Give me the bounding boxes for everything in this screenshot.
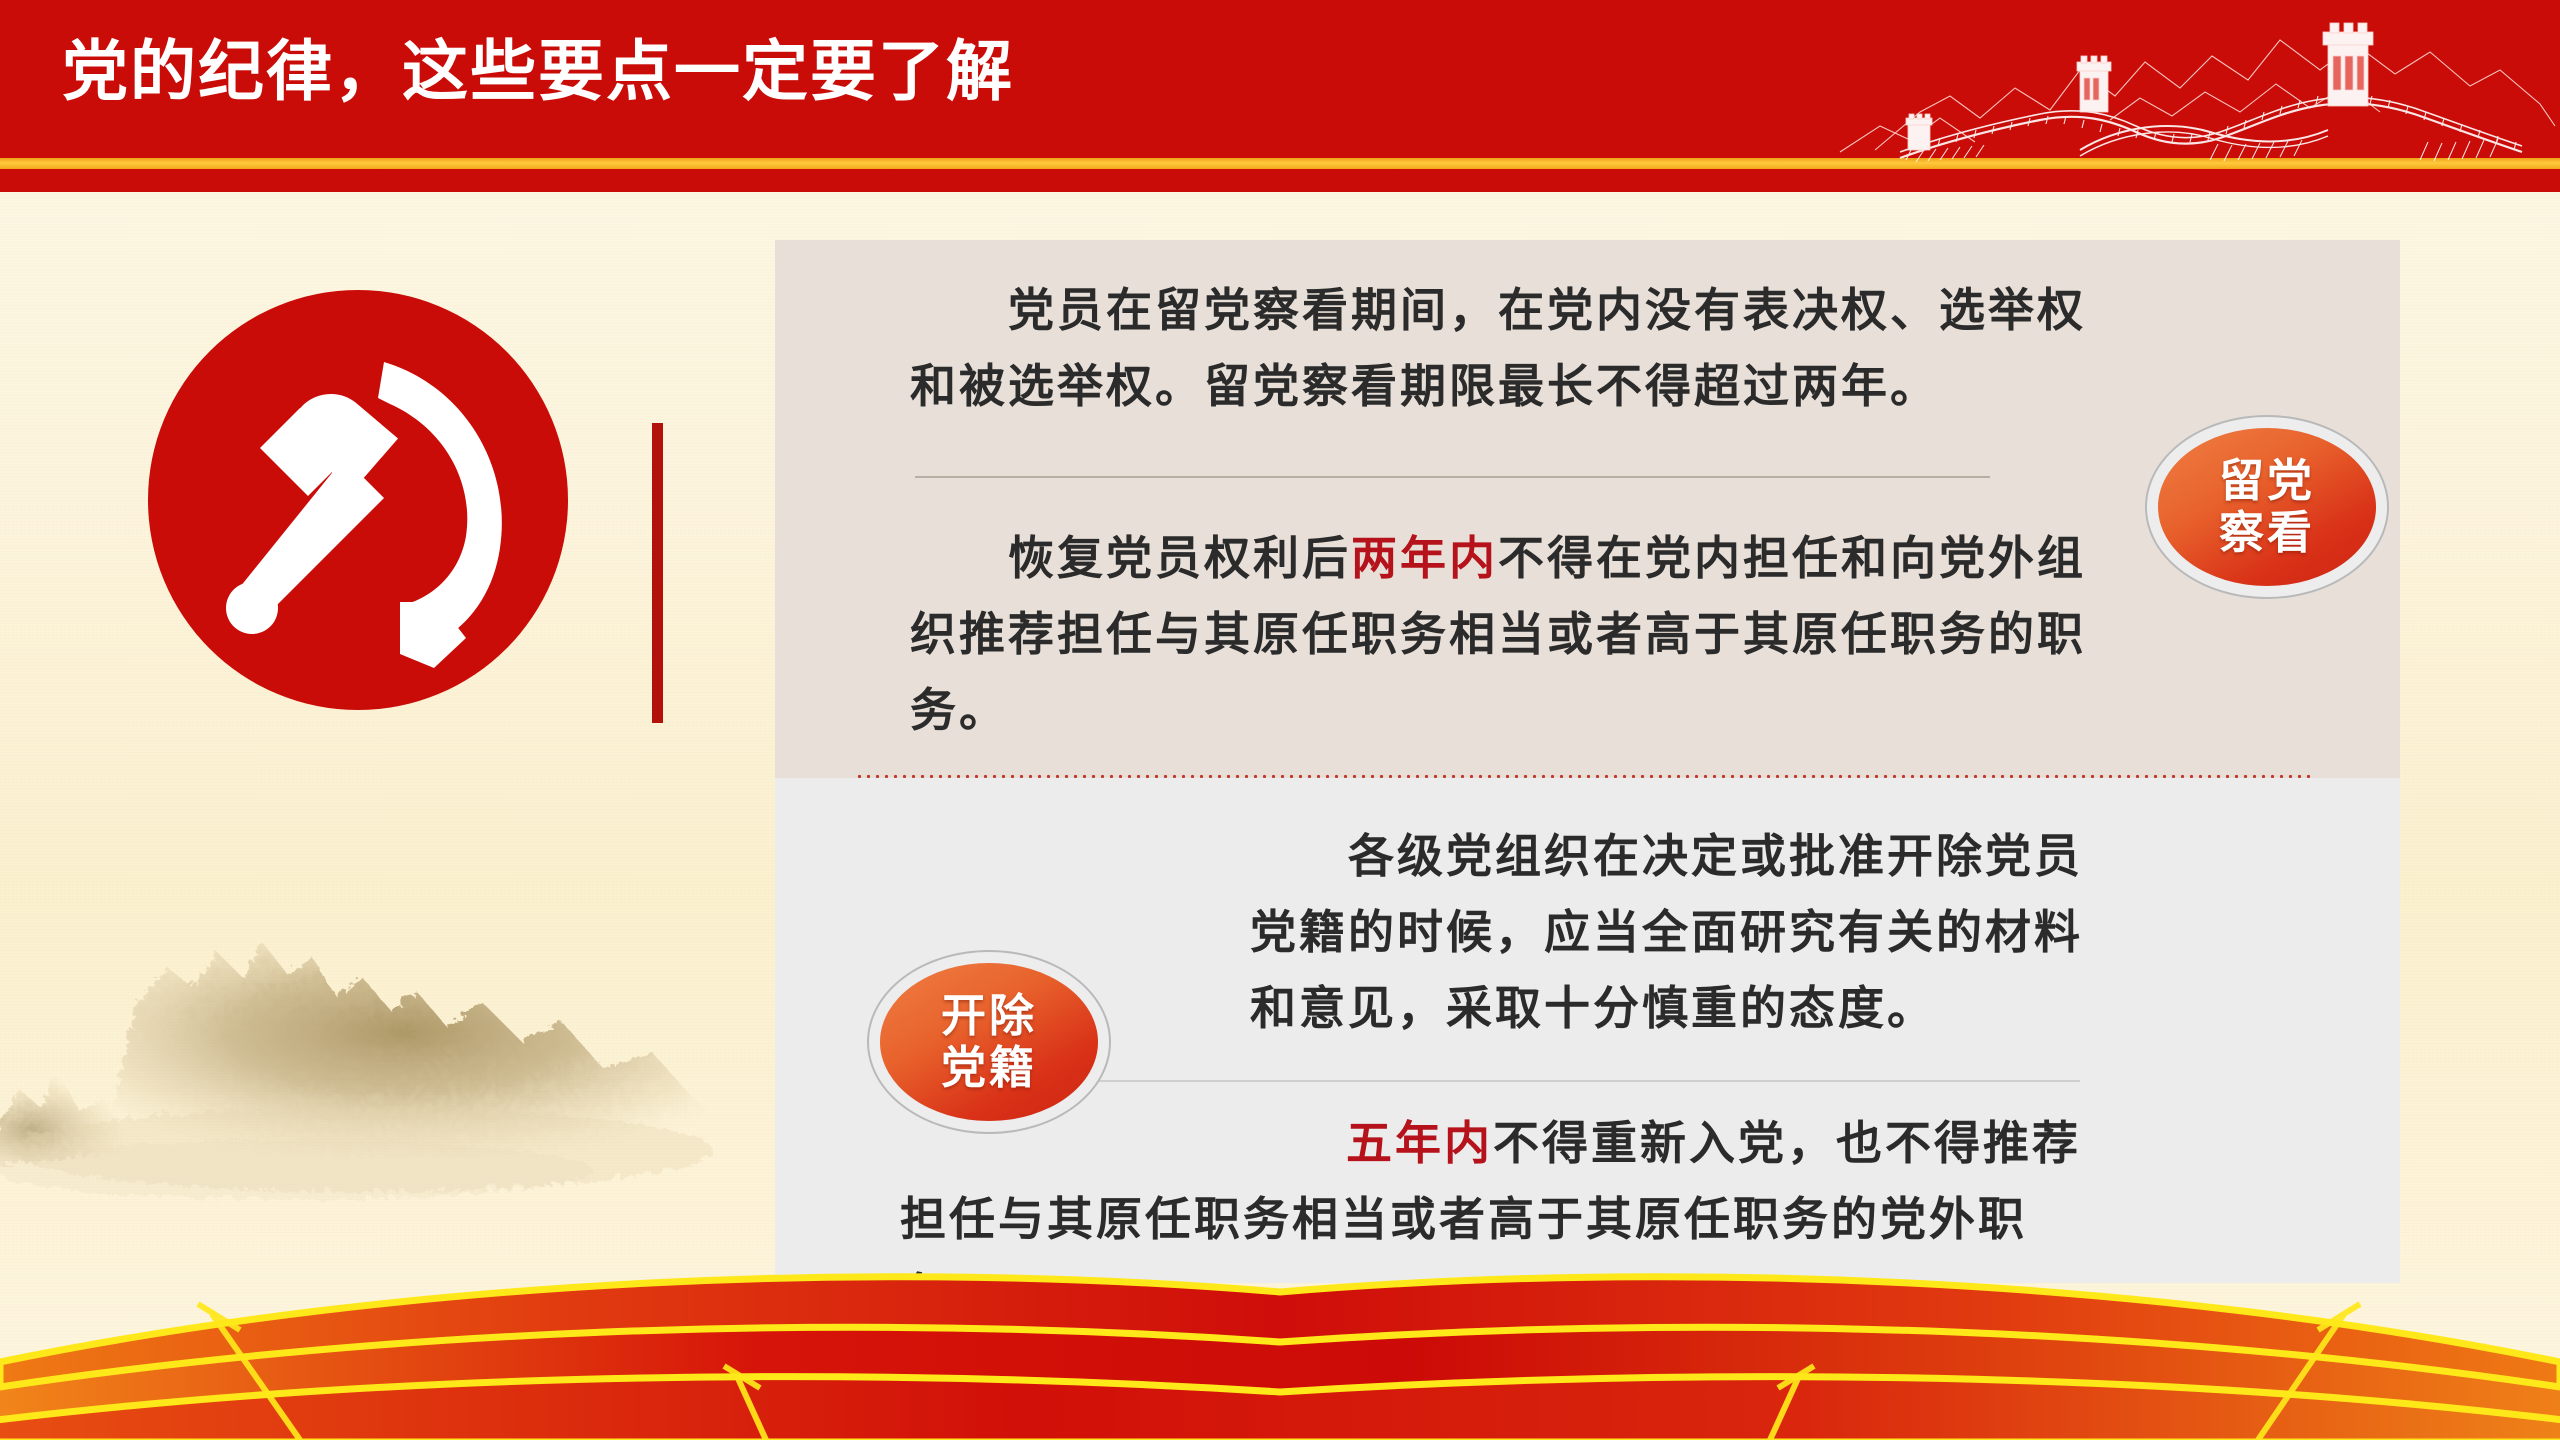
paragraph-2-highlight: 两年内 — [1351, 531, 1498, 585]
paragraph-1-text: 党员在留党察看期间，在党内没有表决权、选举权和被选举权。留党察看期限最长不得超过… — [910, 283, 2086, 413]
badge-expel-party-membership: 开除 党籍 — [880, 963, 1098, 1121]
emblem-circle — [148, 290, 568, 710]
cpc-emblem — [148, 290, 568, 710]
badge-expel-label: 开除 党籍 — [941, 990, 1037, 1094]
badge-expel-line1: 开除 — [941, 989, 1037, 1042]
paragraph-restore-rights: 恢复党员权利后两年内不得在党内担任和向党外组织推荐担任与其原任职务相当或者高于其… — [910, 520, 2090, 748]
slide-root: 党员在留党察看期间，在党内没有表决权、选举权和被选举权。留党察看期限最长不得超过… — [0, 0, 2560, 1440]
badge-retain-party-observation: 留党 察看 — [2158, 428, 2376, 586]
page-title: 党的纪律，这些要点一定要了解 — [62, 26, 1014, 116]
ink-wash-mountain-icon — [0, 880, 760, 1220]
hammer-and-sickle-icon — [148, 290, 568, 710]
badge-expel-line2: 党籍 — [941, 1041, 1037, 1094]
panel-top-divider — [915, 476, 1990, 478]
vertical-accent-rule — [652, 423, 663, 723]
badge-retain-label: 留党 察看 — [2219, 455, 2315, 559]
paragraph-4-pre — [900, 1116, 1346, 1170]
badge-retain-line2: 察看 — [2219, 506, 2315, 559]
paragraph-3-text: 各级党组织在决定或批准开除党员党籍的时候，应当全面研究有关的材料和意见，采取十分… — [1250, 829, 2083, 1035]
bottom-ribbon-decoration — [0, 1270, 2560, 1440]
great-wall-icon — [1780, 0, 2560, 165]
badge-retain-line1: 留党 — [2219, 454, 2315, 507]
paragraph-retain-observation: 党员在留党察看期间，在党内没有表决权、选举权和被选举权。留党察看期限最长不得超过… — [910, 272, 2090, 424]
paragraph-2-pre: 恢复党员权利后 — [910, 531, 1351, 585]
slide-header: 党的纪律，这些要点一定要了解 — [0, 0, 2560, 192]
paragraph-4-highlight: 五年内 — [1346, 1116, 1493, 1170]
